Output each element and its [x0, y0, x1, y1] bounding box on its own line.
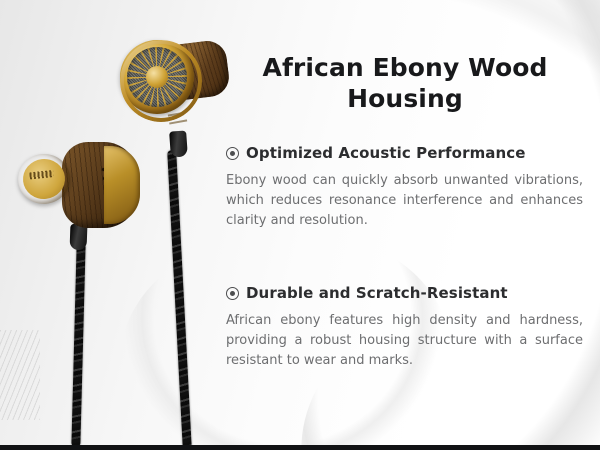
- earbud-upper: [118, 36, 222, 124]
- feature-block-2: Durable and Scratch-Resistant African eb…: [226, 284, 584, 371]
- gold-housing-rim: [104, 146, 140, 224]
- feature-heading-row: Durable and Scratch-Resistant: [226, 284, 584, 302]
- bullseye-icon: [226, 147, 239, 160]
- feature-body: African ebony features high density and …: [226, 311, 583, 371]
- earphone-cable: [167, 150, 192, 450]
- gold-grille-faceplate: [120, 40, 194, 114]
- text-content: African Ebony Wood Housing Optimized Aco…: [226, 0, 584, 445]
- faceplate-inner: [21, 157, 67, 201]
- feature-title: Durable and Scratch-Resistant: [246, 284, 508, 302]
- feature-heading-row: Optimized Acoustic Performance: [226, 144, 584, 162]
- earbud-lower: [18, 140, 148, 240]
- bullseye-icon: [226, 287, 239, 300]
- grille-rim: [120, 40, 202, 122]
- bottom-accent-bar: [0, 445, 600, 450]
- feature-title: Optimized Acoustic Performance: [246, 144, 526, 162]
- earphone-cable: [71, 243, 85, 447]
- product-feature-banner: African Ebony Wood Housing Optimized Aco…: [0, 0, 600, 450]
- product-image: [0, 0, 222, 445]
- feature-block-1: Optimized Acoustic Performance Ebony woo…: [226, 144, 584, 231]
- page-title: African Ebony Wood Housing: [226, 52, 584, 114]
- feature-body: Ebony wood can quickly absorb unwanted v…: [226, 171, 583, 231]
